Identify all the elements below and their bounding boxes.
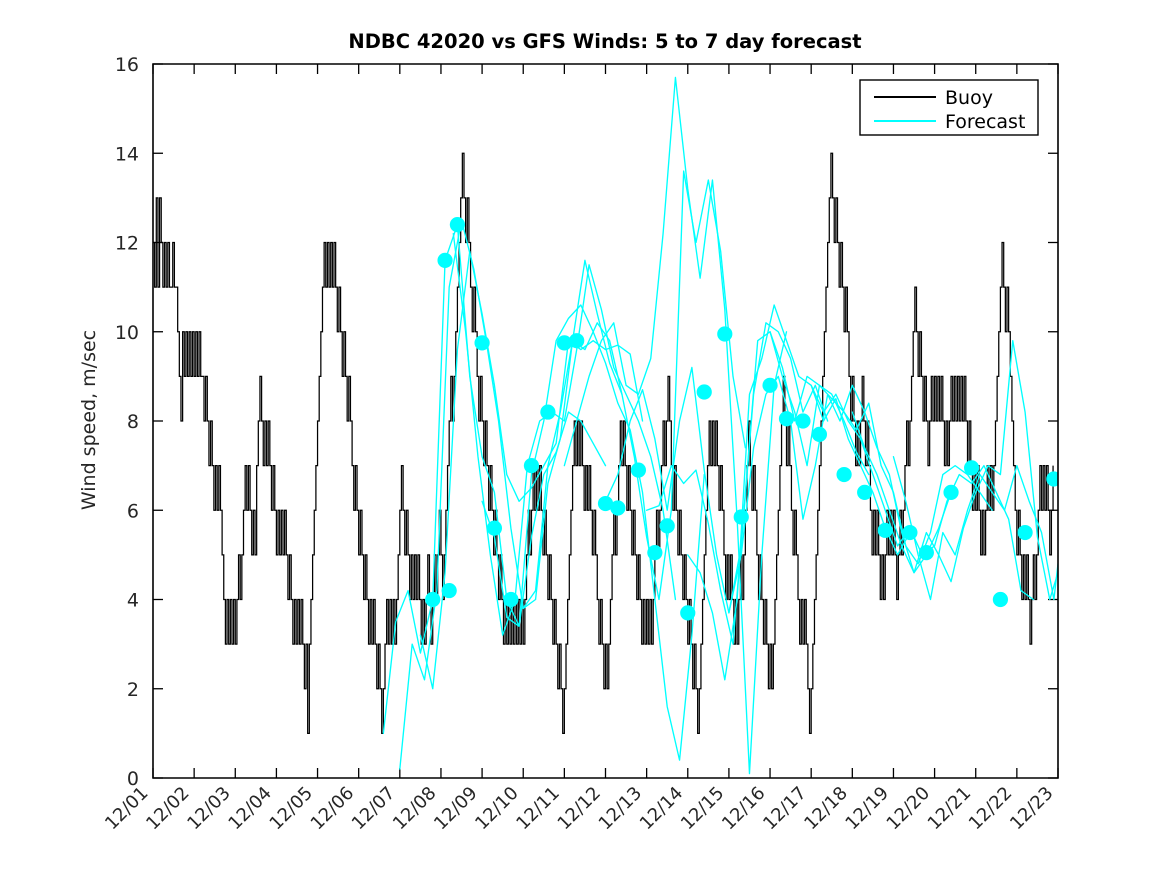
forecast-verification-marker [762,378,777,393]
forecast-verification-marker [524,458,539,473]
forecast-verification-marker [503,592,518,607]
forecast-verification-marker [697,384,712,399]
forecast-verification-marker [878,523,893,538]
forecast-verification-marker [795,413,810,428]
forecast-verification-marker [717,326,732,341]
y-tick-label: 12 [115,233,139,255]
y-tick-label: 16 [115,54,139,76]
forecast-verification-marker [540,404,555,419]
forecast-verification-marker [812,427,827,442]
wind-speed-comparison-chart: NDBC 42020 vs GFS Winds: 5 to 7 day fore… [0,0,1167,875]
forecast-verification-marker [779,411,794,426]
forecast-verification-marker [919,545,934,560]
chart-page: NDBC 42020 vs GFS Winds: 5 to 7 day fore… [0,0,1167,875]
y-tick-label: 8 [127,411,139,433]
legend-label-forecast: Forecast [945,111,1025,133]
y-tick-label: 10 [115,322,139,344]
page-title: NDBC 42020 vs GFS Winds: 5 to 7 day fore… [348,30,861,53]
legend: BuoyForecast [860,80,1038,135]
forecast-verification-marker [680,605,695,620]
forecast-verification-marker [437,253,452,268]
forecast-verification-marker [734,509,749,524]
forecast-verification-marker [442,583,457,598]
legend-label-buoy: Buoy [945,87,993,109]
forecast-verification-marker [857,485,872,500]
forecast-verification-marker [836,467,851,482]
y-axis-label: Wind speed, m/sec [78,330,100,510]
y-tick-label: 6 [127,500,139,522]
forecast-verification-marker [964,460,979,475]
forecast-verification-marker [943,485,958,500]
forecast-verification-marker [993,592,1008,607]
forecast-verification-marker [647,545,662,560]
forecast-verification-marker [487,521,502,536]
y-tick-label: 14 [115,143,139,165]
forecast-verification-marker [902,525,917,540]
forecast-verification-marker [1017,525,1032,540]
forecast-verification-marker [425,592,440,607]
forecast-verification-marker [450,217,465,232]
y-tick-label: 2 [127,679,139,701]
forecast-verification-marker [569,333,584,348]
forecast-verification-marker [610,500,625,515]
forecast-verification-marker [631,462,646,477]
forecast-verification-marker [660,518,675,533]
forecast-verification-marker [474,335,489,350]
y-tick-label: 4 [127,590,139,612]
